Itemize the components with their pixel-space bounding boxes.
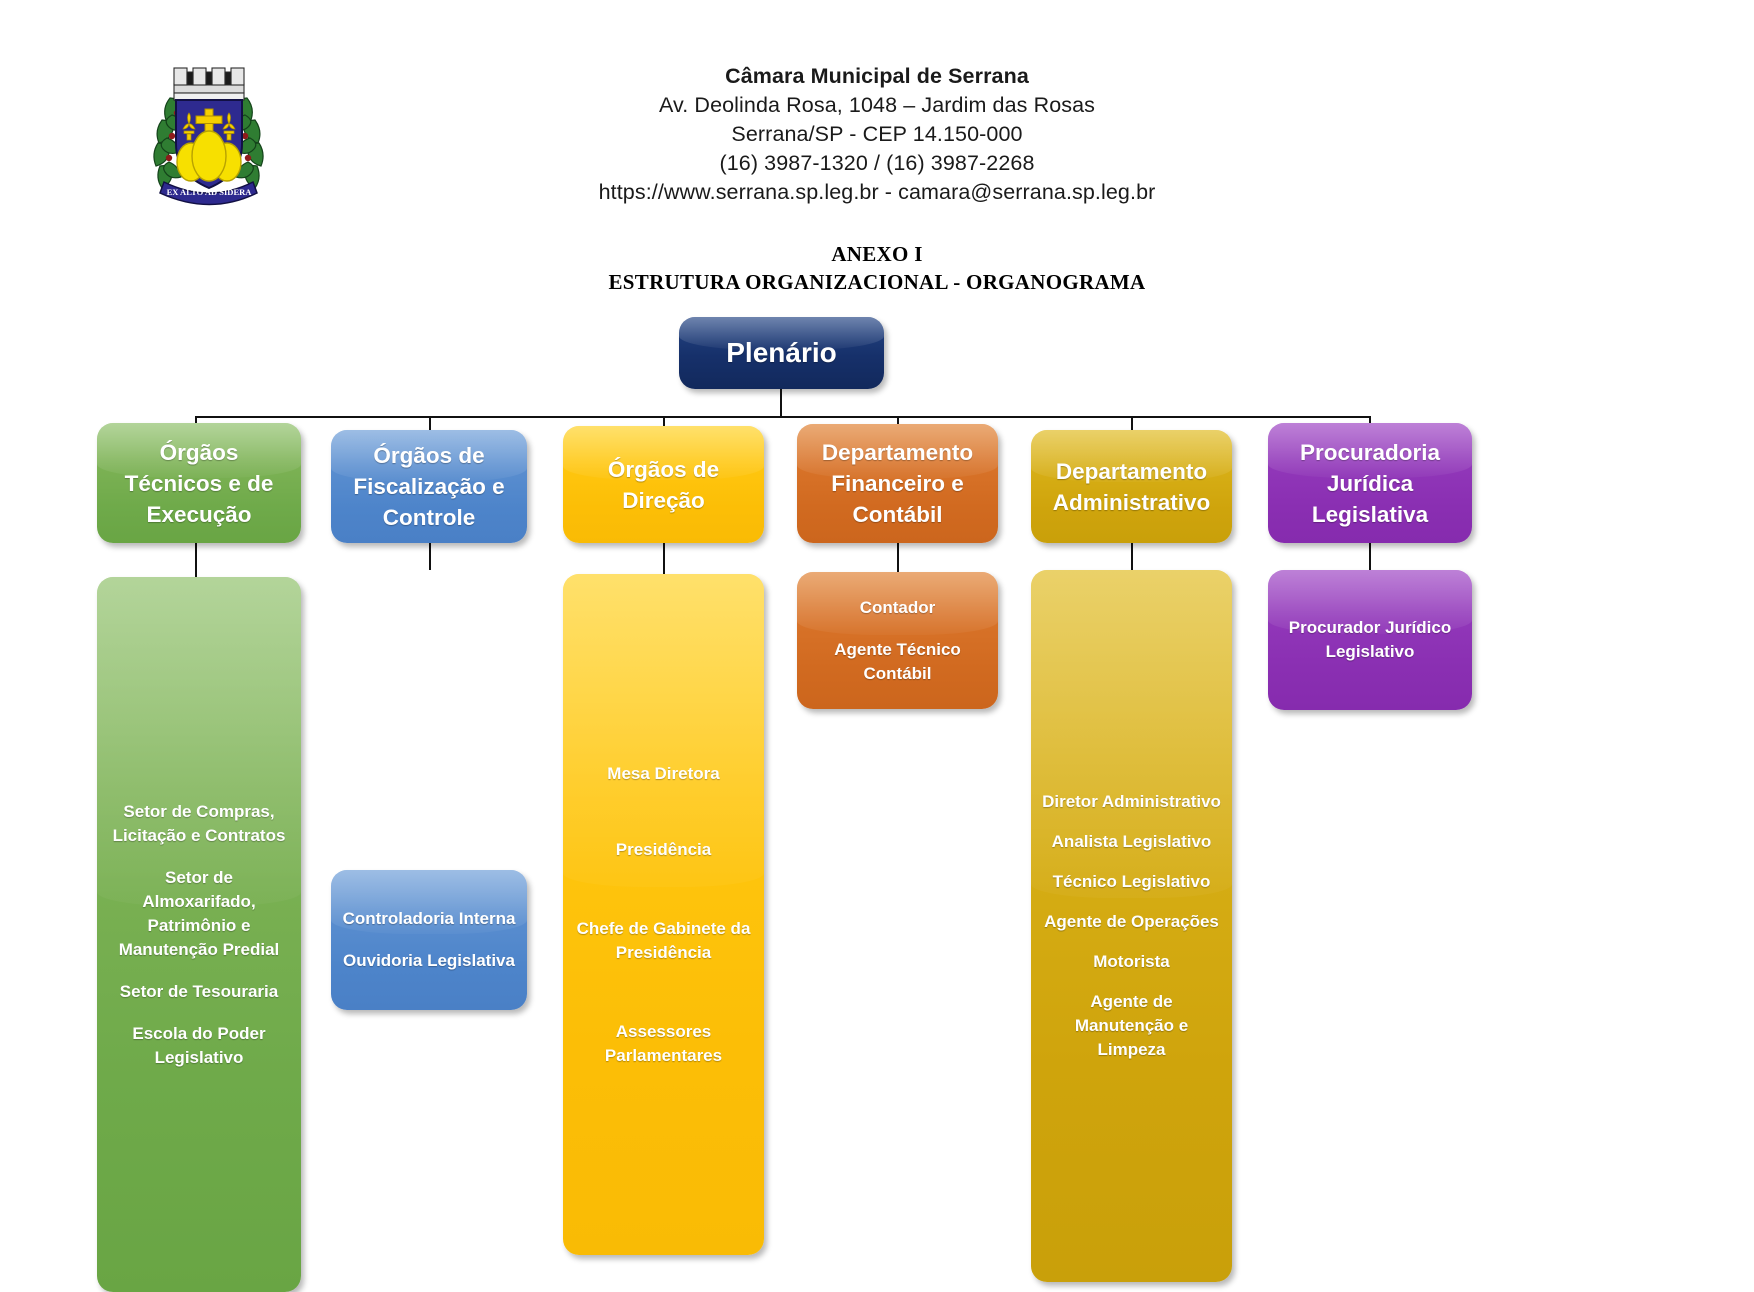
node-body-orgaos-tecnicos[interactable]: Setor de Compras, Licitação e Contratos … (97, 577, 301, 1292)
connector-link-col-4 (1131, 543, 1133, 570)
connector-root-stem (780, 389, 782, 416)
list-item: Diretor Administrativo (1041, 790, 1222, 814)
header-line-2: Serrana/SP - CEP 14.150-000 (477, 120, 1277, 149)
connector-link-col-0 (195, 543, 197, 577)
header-line-4: https://www.serrana.sp.leg.br - camara@s… (477, 178, 1277, 207)
list-item: Agente de Manutenção e Limpeza (1041, 990, 1222, 1062)
header-line: Departamento (1041, 456, 1222, 487)
header-line: Contábil (807, 499, 988, 530)
node-header-orgaos-fiscalizacao[interactable]: Órgãos de Fiscalização e Controle (331, 430, 527, 543)
list-item: Setor de Tesouraria (107, 980, 291, 1004)
header-line: Direção (573, 485, 754, 516)
document-title-line1: ANEXO I (377, 240, 1377, 268)
header-line: Departamento (807, 437, 988, 468)
node-body-orgaos-fiscalizacao[interactable]: Controladoria Interna Ouvidoria Legislat… (331, 870, 527, 1010)
list-item: Assessores Parlamentares (573, 1020, 754, 1068)
header-line: Órgãos (107, 437, 291, 468)
list-item: Contador (807, 596, 988, 620)
org-chart: Plenário Órgãos Técnicos e de Execução S… (0, 300, 1754, 1240)
node-plenario[interactable]: Plenário (679, 317, 884, 389)
node-body-procuradoria-juridica[interactable]: Procurador Jurídico Legislativo (1268, 570, 1472, 710)
header-line: Controle (341, 502, 517, 533)
list-item: Mesa Diretora (573, 762, 754, 786)
header-line: Administrativo (1041, 487, 1222, 518)
list-item: Procurador Jurídico Legislativo (1278, 616, 1462, 664)
header-line: Jurídica (1278, 468, 1462, 499)
page-header: EX ALTO AD SIDERA Câmara Municipal de Se… (0, 0, 1754, 230)
list-item: Agente de Operações (1041, 910, 1222, 934)
list-item: Técnico Legislativo (1041, 870, 1222, 894)
crest-motto: EX ALTO AD SIDERA (167, 187, 253, 197)
list-item: Motorista (1041, 950, 1222, 974)
node-body-departamento-financeiro[interactable]: Contador Agente Técnico Contábil (797, 572, 998, 709)
list-item: Setor de Compras, Licitação e Contratos (107, 800, 291, 848)
node-header-departamento-financeiro[interactable]: Departamento Financeiro e Contábil (797, 424, 998, 543)
connector-link-col-5 (1369, 543, 1371, 570)
node-body-orgaos-direcao[interactable]: Mesa Diretora Presidência Chefe de Gabin… (563, 574, 764, 1255)
header-address-block: Câmara Municipal de Serrana Av. Deolinda… (477, 62, 1277, 207)
node-header-departamento-administrativo[interactable]: Departamento Administrativo (1031, 430, 1232, 543)
node-body-departamento-administrativo[interactable]: Diretor Administrativo Analista Legislat… (1031, 570, 1232, 1282)
list-item: Escola do Poder Legislativo (107, 1022, 291, 1070)
header-line: Fiscalização e (341, 471, 517, 502)
connector-link-col-1 (429, 543, 431, 570)
header-line: Órgãos de (341, 440, 517, 471)
node-header-orgaos-tecnicos[interactable]: Órgãos Técnicos e de Execução (97, 423, 301, 543)
header-line: Órgãos de (573, 454, 754, 485)
node-header-orgaos-direcao[interactable]: Órgãos de Direção (563, 426, 764, 543)
list-item: Presidência (573, 838, 754, 862)
header-line: Execução (107, 499, 291, 530)
connector-link-col-3 (897, 543, 899, 572)
list-item: Setor de Almoxarifado, Patrimônio e Manu… (107, 866, 291, 962)
list-item: Agente Técnico Contábil (807, 638, 988, 686)
coat-of-arms-icon: EX ALTO AD SIDERA (136, 58, 281, 208)
connector-drop-col-1 (429, 416, 431, 430)
connector-link-col-2 (663, 543, 665, 574)
connector-bus (195, 416, 1370, 418)
list-item: Ouvidoria Legislativa (341, 949, 517, 973)
header-line-1: Av. Deolinda Rosa, 1048 – Jardim das Ros… (477, 91, 1277, 120)
header-line: Financeiro e (807, 468, 988, 499)
header-line: Técnicos e de (107, 468, 291, 499)
document-title: ANEXO I ESTRUTURA ORGANIZACIONAL - ORGAN… (377, 240, 1377, 296)
list-item: Analista Legislativo (1041, 830, 1222, 854)
list-item: Controladoria Interna (341, 907, 517, 931)
node-plenario-label: Plenário (679, 336, 884, 370)
list-item: Chefe de Gabinete da Presidência (573, 917, 754, 965)
header-line: Legislativa (1278, 499, 1462, 530)
document-title-line2: ESTRUTURA ORGANIZACIONAL - ORGANOGRAMA (377, 268, 1377, 296)
connector-drop-col-4 (1131, 416, 1133, 430)
header-line-3: (16) 3987-1320 / (16) 3987-2268 (477, 149, 1277, 178)
node-header-procuradoria-juridica[interactable]: Procuradoria Jurídica Legislativa (1268, 423, 1472, 543)
header-line-0: Câmara Municipal de Serrana (477, 62, 1277, 91)
header-line: Procuradoria (1278, 437, 1462, 468)
